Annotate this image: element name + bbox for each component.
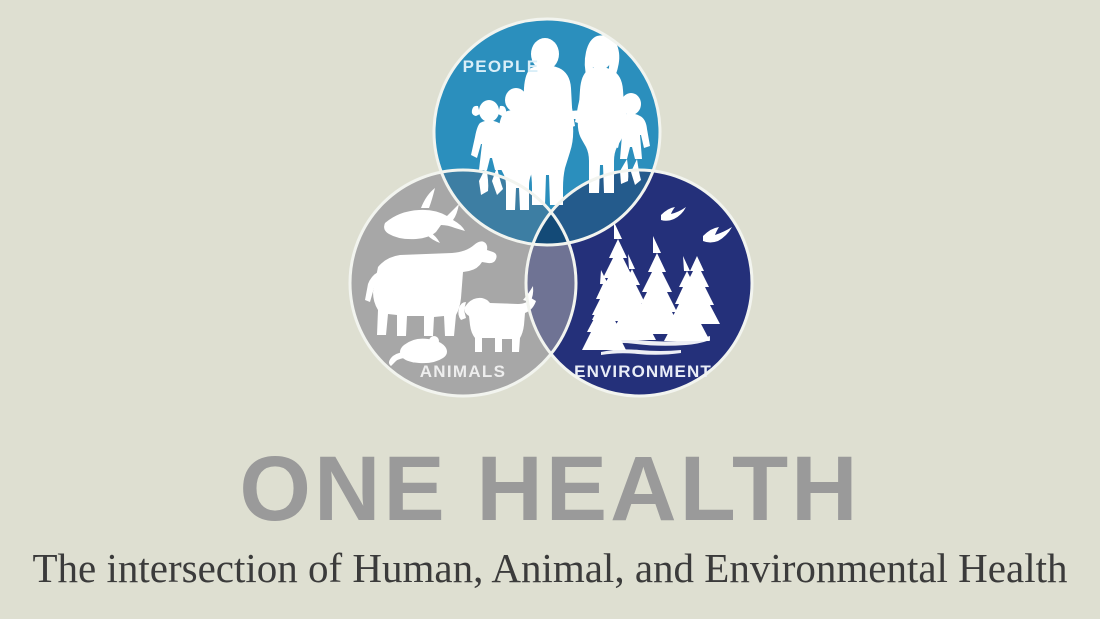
venn-label-animals: ANIMALS [420,362,507,381]
page-title: ONE HEALTH [0,443,1100,535]
venn-label-people: PEOPLE [463,57,540,76]
one-health-poster: PEOPLE [0,0,1100,619]
mouse-ear [429,336,439,346]
page-subtitle: The intersection of Human, Animal, and E… [0,546,1100,591]
venn-diagram: PEOPLE [0,0,1100,430]
venn-label-environment: ENVIRONMENT [574,362,712,381]
